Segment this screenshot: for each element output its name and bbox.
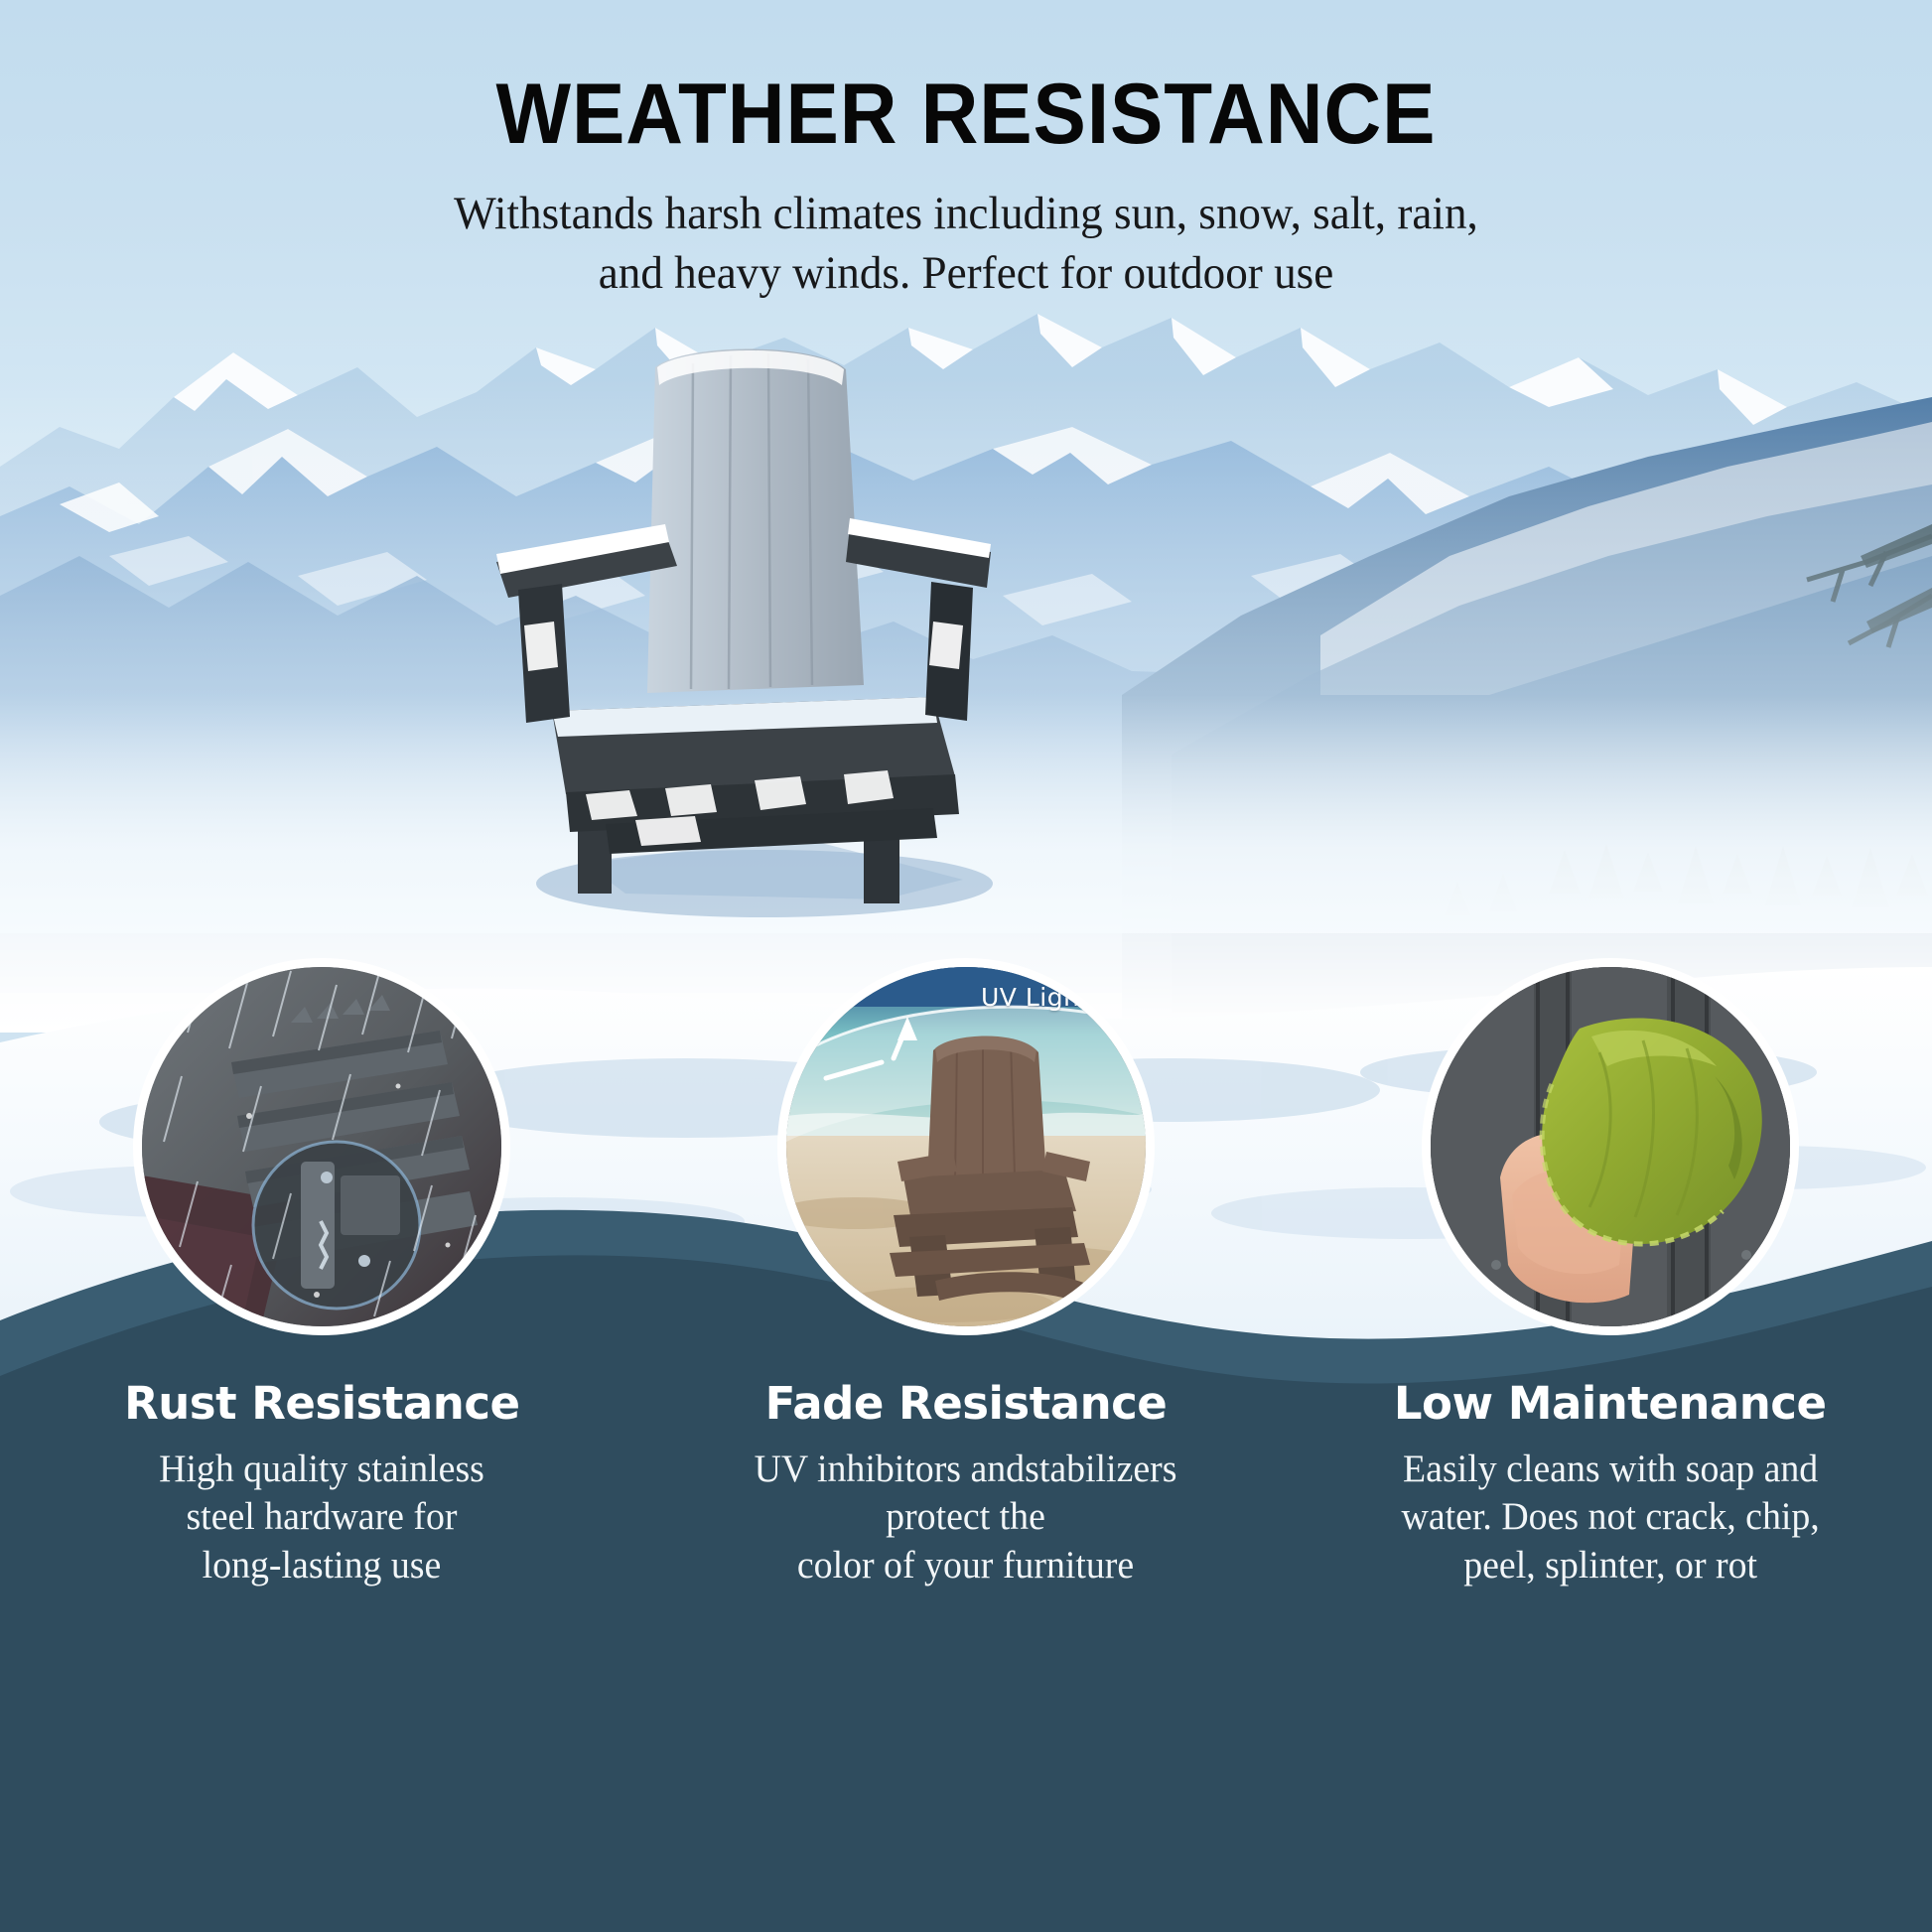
fade-resistance-title: Fade Resistance: [765, 1377, 1168, 1430]
fade-resistance-image[interactable]: UV Light: [777, 958, 1155, 1335]
header-block: WEATHER RESISTANCE Withstands harsh clim…: [0, 69, 1932, 303]
fade-body-line-2: protect the: [755, 1493, 1177, 1541]
rust-resistance-body: High quality stainless steel hardware fo…: [159, 1446, 484, 1589]
low-maint-body-line-1: Easily cleans with soap and: [1401, 1446, 1819, 1493]
feature-low-maintenance: Low Maintenance Easily cleans with soap …: [1288, 958, 1932, 1852]
subtitle-line-2: and heavy winds. Perfect for outdoor use: [346, 244, 1586, 303]
low-maintenance-image[interactable]: [1422, 958, 1799, 1335]
feature-rust-resistance: Rust Resistance High quality stainless s…: [0, 958, 644, 1852]
rust-body-line-2: steel hardware for: [159, 1493, 484, 1541]
rust-resistance-title: Rust Resistance: [124, 1377, 519, 1430]
fade-resistance-body: UV inhibitors andstabilizers protect the…: [755, 1446, 1177, 1589]
page-title: WEATHER RESISTANCE: [68, 69, 1864, 159]
uv-light-label: UV Light: [981, 983, 1090, 1012]
rust-resistance-image[interactable]: [133, 958, 510, 1335]
chair-backrest: [647, 349, 864, 694]
feature-row: Rust Resistance High quality stainless s…: [0, 958, 1932, 1852]
rust-body-line-3: long-lasting use: [159, 1542, 484, 1589]
low-maintenance-body: Easily cleans with soap and water. Does …: [1401, 1446, 1819, 1589]
chair-stretcher-snow: [635, 816, 701, 846]
rust-body-line-1: High quality stainless: [159, 1446, 484, 1493]
subtitle-line-1: Withstands harsh climates including sun,…: [346, 185, 1586, 243]
infographic-root: WEATHER RESISTANCE Withstands harsh clim…: [0, 0, 1932, 1932]
hero-chair-image: [467, 328, 1023, 923]
page-subtitle: Withstands harsh climates including sun,…: [346, 185, 1586, 302]
feature-fade-resistance: UV Light Fade Resistance UV inhibitors a…: [644, 958, 1289, 1852]
fade-body-line-3: color of your furniture: [755, 1542, 1177, 1589]
low-maintenance-title: Low Maintenance: [1394, 1377, 1827, 1430]
fade-body-line-1: UV inhibitors andstabilizers: [755, 1446, 1177, 1493]
low-maint-body-line-3: peel, splinter, or rot: [1401, 1542, 1819, 1589]
low-maint-body-line-2: water. Does not crack, chip,: [1401, 1493, 1819, 1541]
